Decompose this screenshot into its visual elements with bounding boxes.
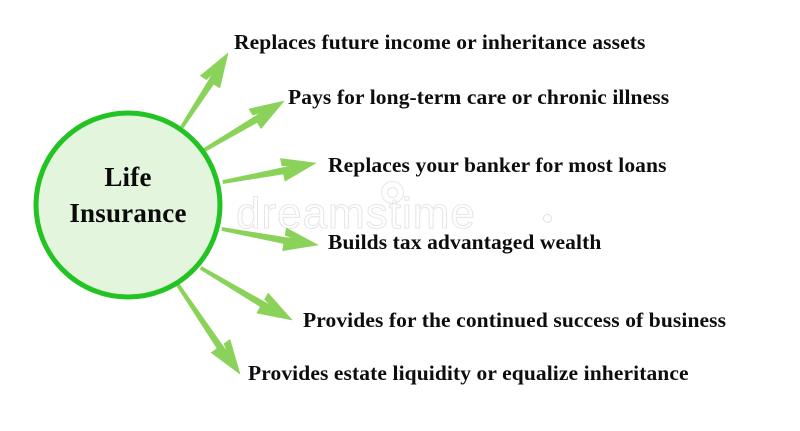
arrow-6	[177, 284, 240, 374]
arrow-4	[222, 227, 318, 250]
branch-label-5: Provides for the continued success of bu…	[303, 310, 726, 332]
arrow-5	[200, 267, 292, 320]
hub-layer	[36, 113, 220, 297]
diagram-canvas: dreamstime Life Insurance Replaces futur…	[0, 0, 800, 431]
hub-circle	[36, 113, 220, 297]
branch-label-1: Replaces future income or inheritance as…	[234, 32, 645, 54]
arrow-2	[200, 101, 284, 153]
arrow-3	[223, 159, 316, 184]
branch-label-2: Pays for long-term care or chronic illne…	[288, 87, 669, 109]
branch-label-6: Provides estate liquidity or equalize in…	[248, 363, 689, 385]
arrow-1	[181, 53, 228, 128]
branch-label-3: Replaces your banker for most loans	[328, 155, 667, 177]
branch-label-4: Builds tax advantaged wealth	[328, 232, 601, 254]
